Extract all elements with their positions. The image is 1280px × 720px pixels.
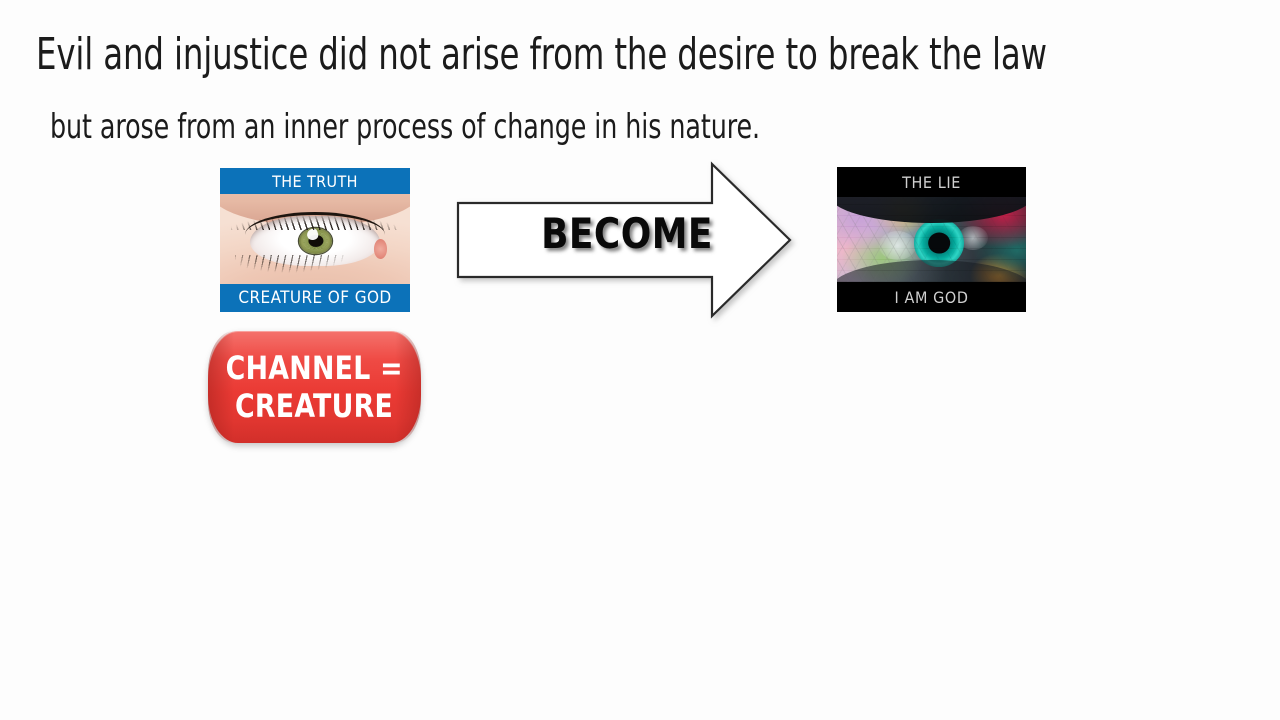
channel-banner-line-1: CHANNEL = xyxy=(226,349,403,387)
become-arrow: BECOME xyxy=(452,158,800,328)
truth-card-eye-image xyxy=(220,194,410,284)
lie-card-top-label: THE LIE xyxy=(902,173,961,192)
lie-card-bottom-band: I AM GOD xyxy=(837,282,1026,312)
mosaic-polygon-edges xyxy=(837,197,1026,282)
become-label: BECOME xyxy=(518,211,737,257)
lie-card: THE LIE I AM GOD xyxy=(837,167,1026,312)
truth-card-top-band: THE TRUTH xyxy=(220,168,410,194)
slide-headline: Evil and injustice did not arise from th… xyxy=(36,26,1020,84)
eye-caruncle xyxy=(374,239,387,259)
eye-lower-lashes xyxy=(235,255,349,282)
truth-card-bottom-band: CREATURE OF GOD xyxy=(220,284,410,312)
truth-card-bottom-label: CREATURE OF GOD xyxy=(238,288,391,308)
eye-upper-lashes xyxy=(231,199,398,230)
truth-card-top-label: THE TRUTH xyxy=(272,172,358,191)
lie-card-mosaic-eye-image xyxy=(837,197,1026,282)
lie-card-bottom-label: I AM GOD xyxy=(894,288,968,307)
channel-banner-line-2: CREATURE xyxy=(235,387,393,425)
lie-card-top-band: THE LIE xyxy=(837,167,1026,197)
slide-subline: but arose from an inner process of chang… xyxy=(50,104,1046,150)
channel-creature-banner: CHANNEL = CREATURE xyxy=(208,331,421,443)
truth-card: THE TRUTH CREATURE OF GOD xyxy=(220,168,410,312)
